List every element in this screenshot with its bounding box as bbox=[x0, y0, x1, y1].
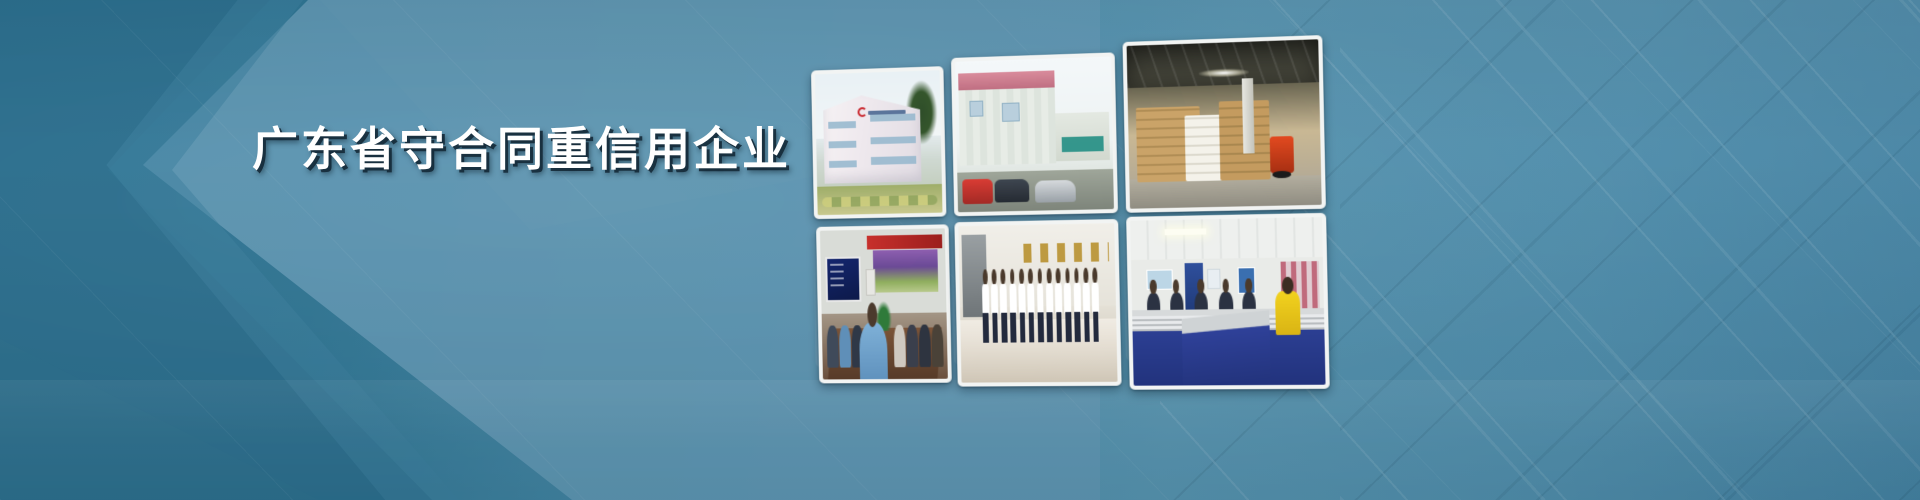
gallery-photo-factory-building-exterior[interactable] bbox=[811, 66, 946, 219]
headline-container: 广东省守合同重信用企业 bbox=[252, 126, 791, 172]
photo-image bbox=[955, 57, 1114, 213]
company-honor-banner: 广东省守合同重信用企业 bbox=[0, 0, 1920, 500]
background-shape-dark-triangle bbox=[0, 0, 900, 500]
photo-image bbox=[1127, 39, 1322, 208]
photo-image bbox=[815, 70, 943, 215]
gallery-photo-office-workspace[interactable] bbox=[1126, 213, 1330, 390]
photo-image bbox=[958, 223, 1117, 383]
company-logo-mark bbox=[858, 107, 868, 117]
gallery-photo-warehouse-storage[interactable] bbox=[1122, 35, 1325, 213]
background-shape-diagonal-band bbox=[90, 0, 910, 500]
photo-image bbox=[1130, 217, 1325, 386]
gallery-photo-team-group-photo[interactable] bbox=[954, 219, 1121, 387]
company-photo-gallery bbox=[811, 35, 1338, 366]
background-diagonal-grid-secondary bbox=[1340, 0, 1920, 500]
gallery-photo-factory-entrance-vehicles[interactable] bbox=[951, 52, 1118, 216]
photo-image bbox=[820, 228, 948, 379]
background-shape-lower-slab bbox=[0, 240, 760, 500]
background-reflective-floor bbox=[0, 380, 1920, 500]
gallery-photo-conference-meeting[interactable] bbox=[816, 224, 952, 383]
banner-headline: 广东省守合同重信用企业 bbox=[252, 126, 791, 172]
wall-sign bbox=[1024, 242, 1109, 262]
